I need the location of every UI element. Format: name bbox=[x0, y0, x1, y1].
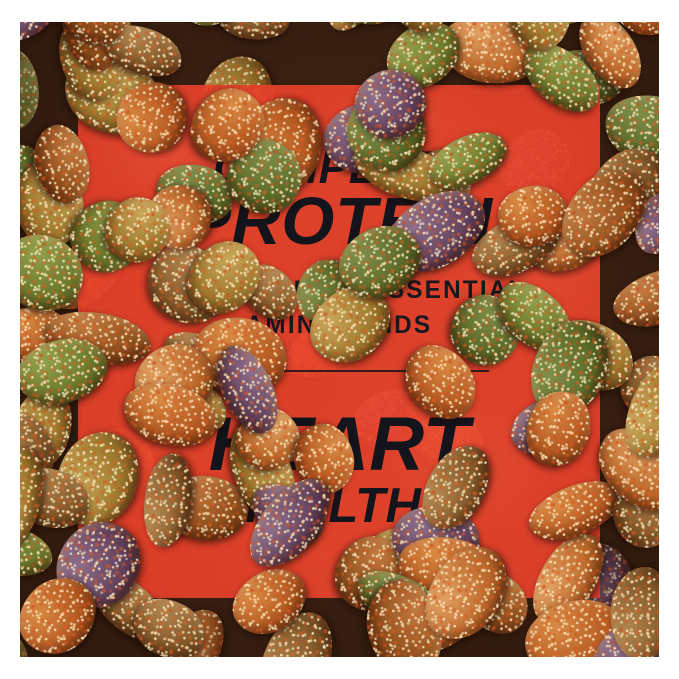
pistachio-kernel bbox=[211, 22, 294, 44]
pistachio-kernel bbox=[606, 256, 659, 337]
pistachio-kernel bbox=[315, 22, 403, 40]
pistachio-kernel bbox=[20, 45, 43, 133]
product-claim-image: COMPLETE PROTEIN WITH ALL NINE ESSENTIAL… bbox=[0, 0, 679, 679]
